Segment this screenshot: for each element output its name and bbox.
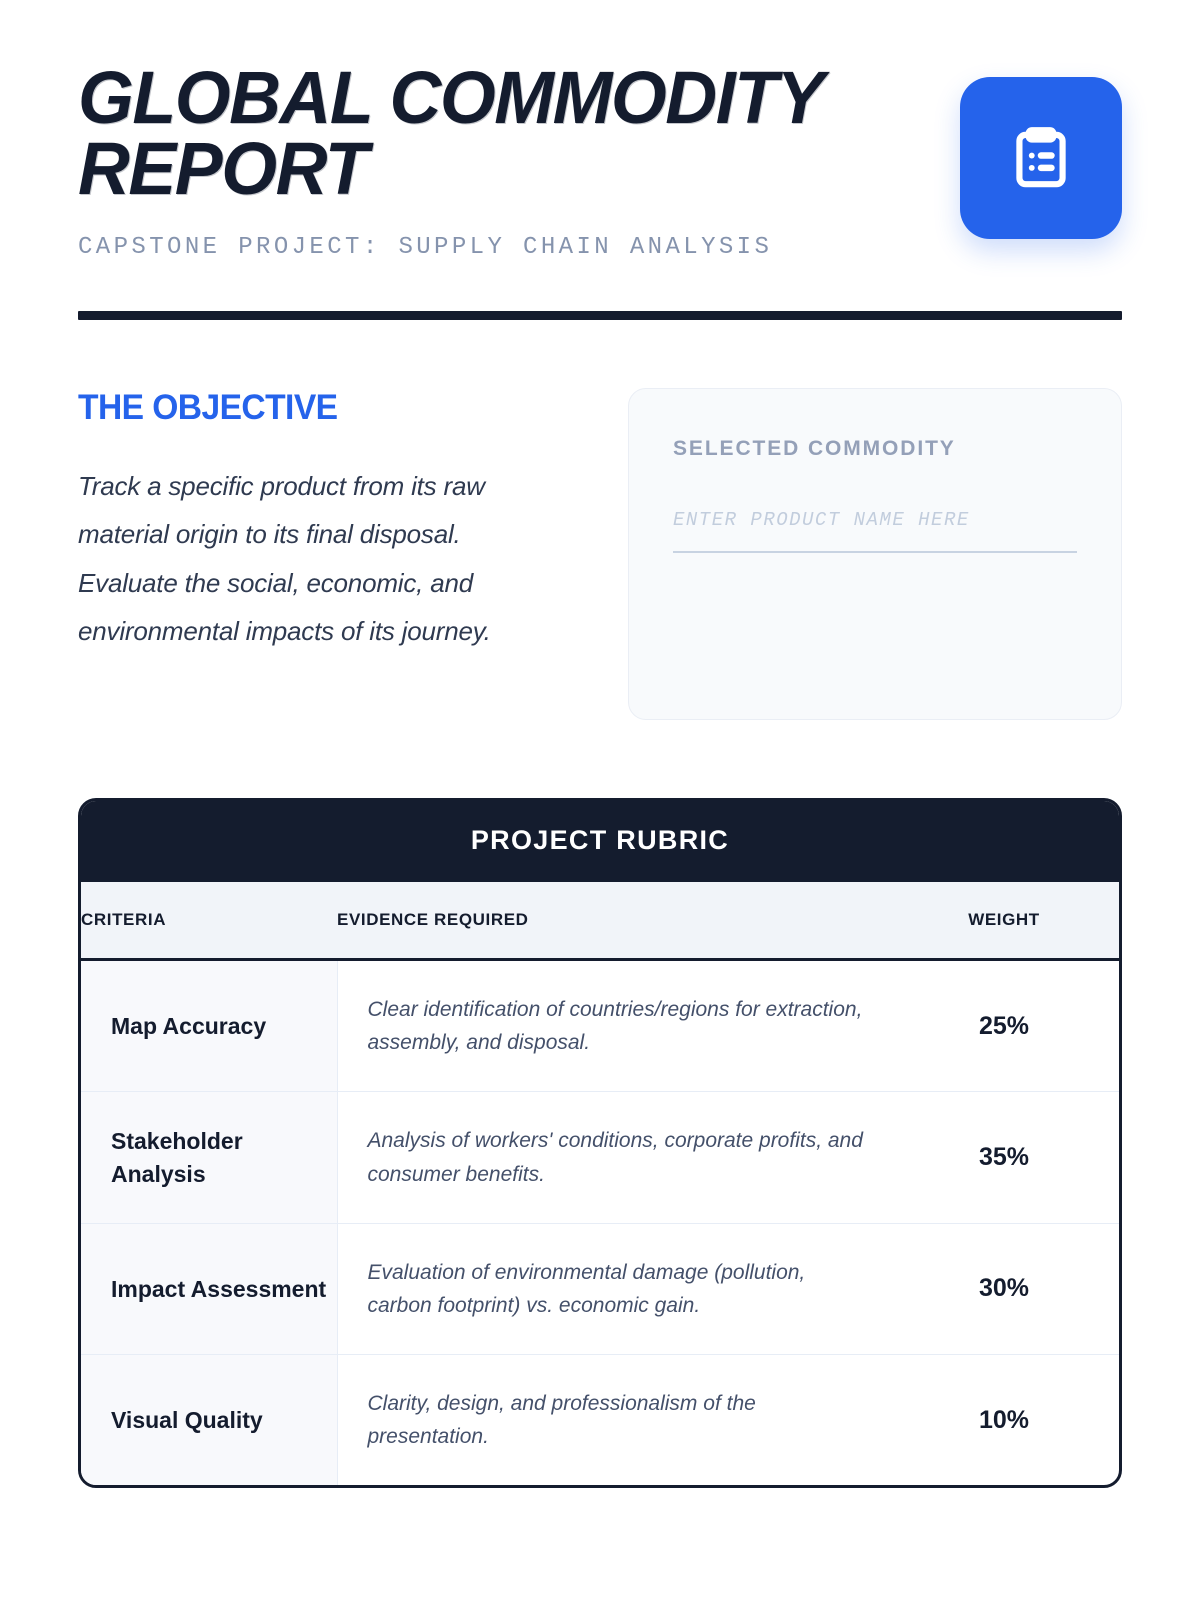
table-header-row: CRITERIA EVIDENCE REQUIRED WEIGHT: [81, 882, 1119, 960]
commodity-input-field[interactable]: [673, 509, 1077, 553]
clipboard-list-icon: [1004, 121, 1078, 195]
objective-section: THE OBJECTIVE Track a specific product f…: [78, 388, 548, 655]
cell-weight: 25%: [889, 960, 1119, 1092]
project-rubric-panel: PROJECT RUBRIC CRITERIA EVIDENCE REQUIRE…: [78, 798, 1122, 1488]
objective-heading: THE OBJECTIVE: [78, 388, 529, 428]
mid-section: THE OBJECTIVE Track a specific product f…: [78, 388, 1122, 720]
page-header: GLOBAL COMMODITY REPORT CAPSTONE PROJECT…: [78, 0, 1122, 320]
cell-weight: 35%: [889, 1092, 1119, 1223]
cell-weight: 10%: [889, 1355, 1119, 1486]
header-divider-rule: [78, 311, 1122, 320]
column-header-weight: WEIGHT: [889, 882, 1119, 960]
cell-evidence: Clarity, design, and professionalism of …: [337, 1355, 889, 1486]
cell-evidence: Clear identification of countries/region…: [337, 960, 889, 1092]
cell-criteria: Visual Quality: [81, 1355, 337, 1486]
product-name-input[interactable]: [673, 509, 1077, 531]
cell-weight: 30%: [889, 1223, 1119, 1354]
rubric-table-head: CRITERIA EVIDENCE REQUIRED WEIGHT: [81, 882, 1119, 960]
cell-criteria: Map Accuracy: [81, 960, 337, 1092]
cell-criteria: Impact Assessment: [81, 1223, 337, 1354]
column-header-evidence: EVIDENCE REQUIRED: [337, 882, 889, 960]
page-title-line-2: REPORT: [78, 127, 367, 210]
rubric-title: PROJECT RUBRIC: [81, 801, 1119, 882]
table-row: Impact Assessment Evaluation of environm…: [81, 1223, 1119, 1354]
page-title: GLOBAL COMMODITY REPORT: [78, 62, 823, 204]
table-row: Map Accuracy Clear identification of cou…: [81, 960, 1119, 1092]
cell-evidence: Analysis of workers' conditions, corpora…: [337, 1092, 889, 1223]
table-row: Visual Quality Clarity, design, and prof…: [81, 1355, 1119, 1486]
rubric-table: CRITERIA EVIDENCE REQUIRED WEIGHT Map Ac…: [81, 882, 1119, 1485]
cell-criteria: Stakeholder Analysis: [81, 1092, 337, 1223]
header-row: GLOBAL COMMODITY REPORT CAPSTONE PROJECT…: [78, 62, 1122, 261]
report-page: GLOBAL COMMODITY REPORT CAPSTONE PROJECT…: [0, 0, 1200, 1600]
table-row: Stakeholder Analysis Analysis of workers…: [81, 1092, 1119, 1223]
title-block: GLOBAL COMMODITY REPORT CAPSTONE PROJECT…: [78, 62, 846, 261]
rubric-table-body: Map Accuracy Clear identification of cou…: [81, 960, 1119, 1486]
cell-evidence: Evaluation of environmental damage (poll…: [337, 1223, 889, 1354]
selected-commodity-card: SELECTED COMMODITY: [628, 388, 1122, 720]
selected-commodity-label: SELECTED COMMODITY: [673, 437, 1077, 461]
page-subtitle: CAPSTONE PROJECT: SUPPLY CHAIN ANALYSIS: [78, 234, 846, 261]
logo-badge: [960, 77, 1122, 239]
column-header-criteria: CRITERIA: [81, 882, 337, 960]
objective-body-text: Track a specific product from its raw ma…: [78, 462, 548, 655]
